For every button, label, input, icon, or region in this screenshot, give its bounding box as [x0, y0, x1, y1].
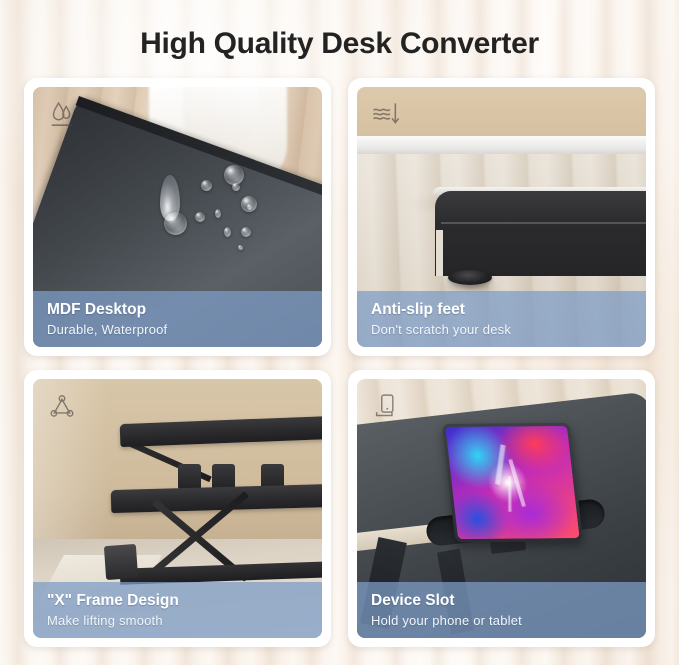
wallpaper-shard [509, 459, 527, 506]
water-droplet [164, 212, 187, 235]
feature-title: Device Slot [371, 591, 646, 611]
feature-card-mdf-desktop[interactable]: MDF Desktop Durable, Waterproof [24, 78, 331, 356]
water-droplet [201, 180, 212, 191]
tablet-device [442, 422, 583, 542]
tablet-slot-icon [369, 390, 403, 424]
anti-slip-foot [448, 270, 492, 285]
feature-subtitle: Make lifting smooth [47, 611, 322, 630]
water-droplet [224, 227, 231, 237]
anti-slip-waves-icon [369, 98, 403, 132]
page-title: High Quality Desk Converter [0, 0, 679, 78]
feature-grid: MDF Desktop Durable, Waterproof [0, 78, 679, 665]
wallpaper-shard [509, 475, 512, 511]
riser-seam-line [441, 222, 646, 224]
feature-caption-mdf-desktop: MDF Desktop Durable, Waterproof [33, 291, 322, 347]
lift-handle [104, 544, 138, 580]
water-droplet [215, 209, 221, 218]
feature-title: MDF Desktop [47, 300, 322, 320]
water-droplet [247, 204, 252, 210]
feature-subtitle: Hold your phone or tablet [371, 611, 646, 630]
keyboard-riser-block [178, 464, 201, 490]
riser-notch [436, 230, 443, 277]
tablet-screen [446, 425, 581, 539]
feature-card-x-frame-design[interactable]: "X" Frame Design Make lifting smooth [24, 370, 331, 648]
feature-card-device-slot[interactable]: Device Slot Hold your phone or tablet [348, 370, 655, 648]
wallpaper-shard [496, 444, 506, 484]
feature-photo-anti-slip-feet: Anti-slip feet Don't scratch your desk [357, 87, 646, 347]
feature-title: Anti-slip feet [371, 300, 646, 320]
feature-subtitle: Don't scratch your desk [371, 320, 646, 339]
triangle-frame-icon [45, 390, 79, 424]
water-droplet [195, 212, 205, 222]
feature-subtitle: Durable, Waterproof [47, 320, 322, 339]
feature-caption-device-slot: Device Slot Hold your phone or tablet [357, 582, 646, 638]
feature-caption-x-frame-design: "X" Frame Design Make lifting smooth [33, 582, 322, 638]
feature-card-anti-slip-feet[interactable]: Anti-slip feet Don't scratch your desk [348, 78, 655, 356]
infographic-page: High Quality Desk Converter [0, 0, 679, 665]
feature-photo-mdf-desktop: MDF Desktop Durable, Waterproof [33, 87, 322, 347]
water-droplet [224, 165, 244, 185]
feature-title: "X" Frame Design [47, 591, 322, 611]
feature-photo-device-slot: Device Slot Hold your phone or tablet [357, 379, 646, 639]
riser-body [435, 191, 646, 277]
water-drop-icon [45, 98, 79, 132]
feature-photo-x-frame-design: "X" Frame Design Make lifting smooth [33, 379, 322, 639]
feature-caption-anti-slip-feet: Anti-slip feet Don't scratch your desk [357, 291, 646, 347]
